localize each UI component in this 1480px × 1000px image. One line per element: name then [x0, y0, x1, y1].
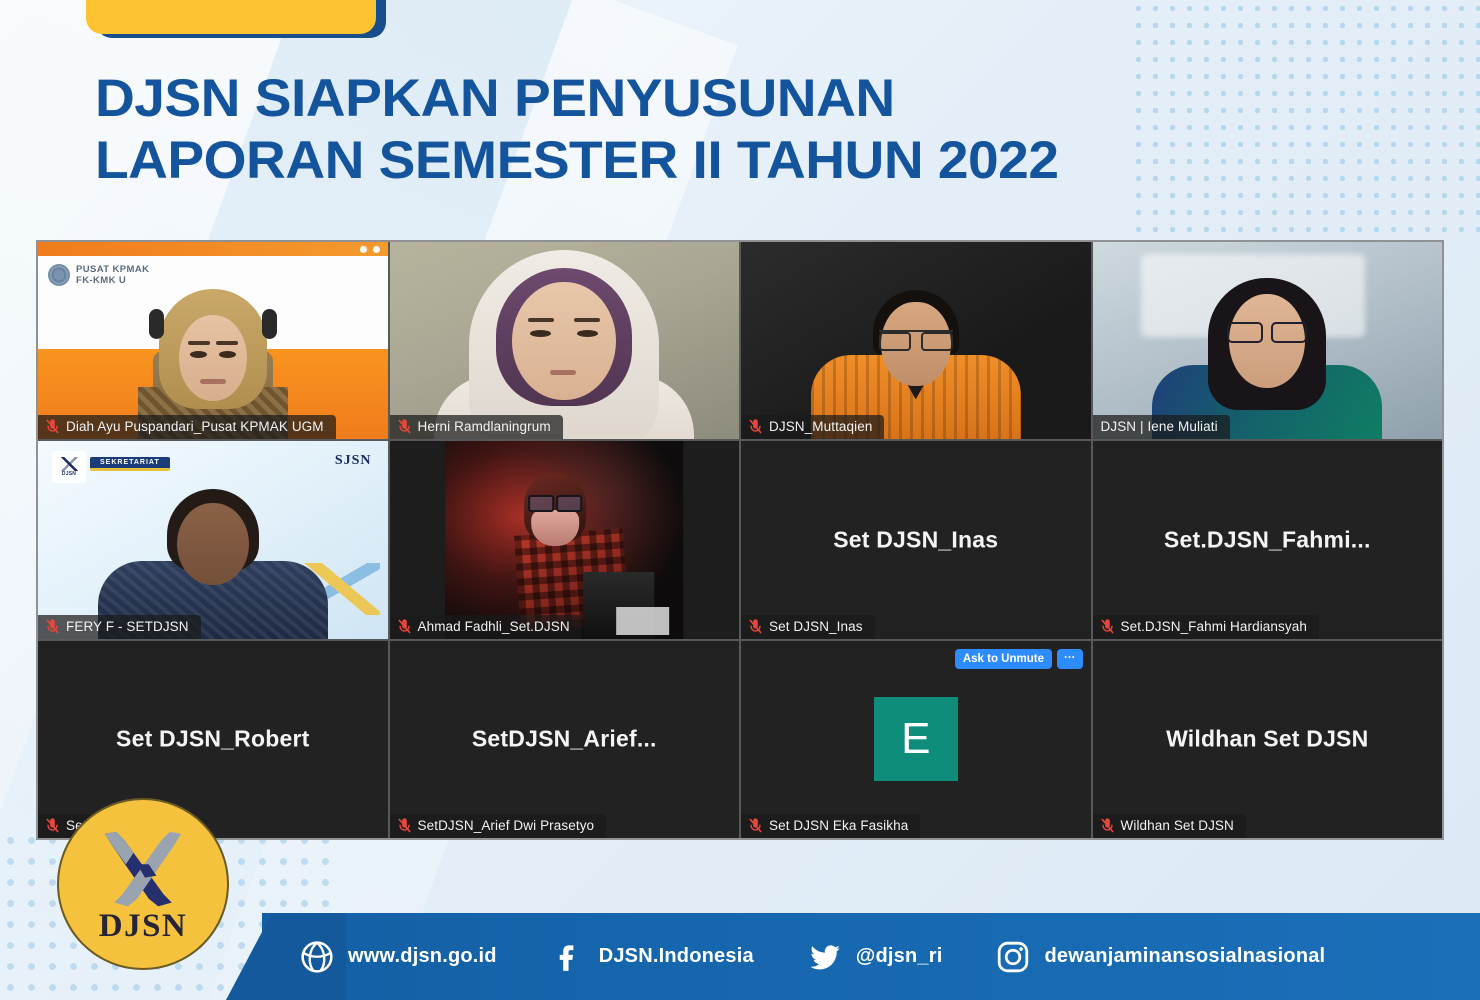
- video-feed: [390, 441, 740, 638]
- participant-name: Set DJSN_Inas: [769, 619, 863, 634]
- globe-icon: [300, 940, 334, 974]
- participant-tile[interactable]: DJSN SEKRETARIAT SJSN FERY F - SETDJSN: [38, 441, 388, 638]
- participant-tile[interactable]: Ahmad Fadhli_Set.DJSN: [390, 441, 740, 638]
- participant-nameplate: Wildhan Set DJSN: [1093, 814, 1246, 838]
- ask-to-unmute-button[interactable]: Ask to Unmute: [955, 649, 1052, 669]
- participant-hover-controls[interactable]: Ask to Unmute ···: [955, 649, 1083, 669]
- participant-name: Herni Ramdlaningrum: [418, 419, 551, 434]
- participant-name: SetDJSN_Arief Dwi Prasetyo: [418, 818, 595, 833]
- footer-item-facebook[interactable]: DJSN.Indonesia: [551, 940, 754, 974]
- figure-face: [512, 282, 616, 400]
- muted-mic-icon: [398, 419, 411, 434]
- participant-display-name: Set.DJSN_Fahmi...: [1093, 526, 1443, 553]
- sjsn-mark: SJSN: [335, 453, 372, 469]
- title-line-2: LAPORAN SEMESTER II TAHUN 2022: [95, 130, 1322, 192]
- participant-nameplate: DJSN | Iene Muliati: [1093, 415, 1230, 439]
- participant-display-name: Wildhan Set DJSN: [1093, 726, 1443, 753]
- participant-name: DJSN | Iene Muliati: [1101, 419, 1218, 434]
- participant-name: Ahmad Fadhli_Set.DJSN: [418, 619, 570, 634]
- participant-display-name: Set DJSN_Robert: [38, 726, 388, 753]
- djsn-logo-icon: DJSN: [52, 451, 86, 483]
- participant-name: Set DJSN Eka Fasikha: [769, 818, 908, 833]
- video-feed: [1093, 242, 1443, 439]
- participant-tile[interactable]: PUSAT KPMAKFK-KMK U: [38, 242, 388, 439]
- participant-tile[interactable]: Set DJSN_Inas Set DJSN_Inas: [741, 441, 1091, 638]
- ugm-seal-icon: [48, 264, 70, 286]
- muted-mic-icon: [46, 619, 59, 634]
- participant-nameplate: SetDJSN_Arief Dwi Prasetyo: [390, 814, 607, 838]
- participant-tile[interactable]: Herni Ramdlaningrum: [390, 242, 740, 439]
- footer-item-instagram[interactable]: dewanjaminansosialnasional: [996, 940, 1325, 974]
- instagram-icon: [996, 940, 1030, 974]
- screen-glow: [617, 607, 669, 635]
- participant-name: Set.DJSN_Fahmi Hardiansyah: [1121, 619, 1307, 634]
- muted-mic-icon: [1101, 619, 1114, 634]
- djsn-wordmark: DJSN: [99, 908, 188, 945]
- participant-name: FERY F - SETDJSN: [66, 619, 189, 634]
- djsn-x-ribbon-icon: [95, 828, 191, 912]
- muted-mic-icon: [1101, 818, 1114, 833]
- sekretariat-badge: SEKRETARIAT: [90, 457, 170, 471]
- facebook-icon: [551, 940, 585, 974]
- footer-item-website[interactable]: www.djsn.go.id: [300, 940, 497, 974]
- participant-tile[interactable]: SetDJSN_Arief... SetDJSN_Arief Dwi Prase…: [390, 641, 740, 838]
- participant-name: DJSN_Muttaqien: [769, 419, 872, 434]
- participant-tile[interactable]: Set.DJSN_Fahmi... Set.DJSN_Fahmi Hardian…: [1093, 441, 1443, 638]
- video-image: [445, 441, 683, 638]
- muted-mic-icon: [398, 619, 411, 634]
- participant-tile[interactable]: Wildhan Set DJSN Wildhan Set DJSN: [1093, 641, 1443, 838]
- participant-display-name: Set DJSN_Inas: [741, 526, 1091, 553]
- participant-nameplate: DJSN_Muttaqien: [741, 415, 884, 439]
- footer-label-instagram: dewanjaminansosialnasional: [1044, 945, 1325, 968]
- participant-nameplate: Set.DJSN_Fahmi Hardiansyah: [1093, 615, 1319, 639]
- avatar: E: [874, 697, 958, 781]
- video-feed: [741, 242, 1091, 439]
- footer-item-twitter[interactable]: @djsn_ri: [808, 940, 943, 974]
- muted-mic-icon: [398, 818, 411, 833]
- virtual-bg-topbar: [38, 242, 388, 256]
- more-options-button[interactable]: ···: [1057, 649, 1083, 669]
- video-feed: [390, 242, 740, 439]
- muted-mic-icon: [749, 818, 762, 833]
- glasses-icon: [879, 330, 953, 346]
- headset-icon: [262, 309, 277, 339]
- participant-nameplate: Diah Ayu Puspandari_Pusat KPMAK UGM: [38, 415, 336, 439]
- participant-nameplate: FERY F - SETDJSN: [38, 615, 201, 639]
- participant-tile[interactable]: DJSN_Muttaqien: [741, 242, 1091, 439]
- instagram-icon: [360, 246, 367, 253]
- footer-label-facebook: DJSN.Indonesia: [599, 945, 754, 968]
- title-line-1: DJSN SIAPKAN PENYUSUNAN: [95, 68, 1322, 130]
- glasses-icon: [528, 495, 582, 509]
- participant-tile-hovered[interactable]: Ask to Unmute ··· E Set DJSN Eka Fasikha: [741, 641, 1091, 838]
- avatar-initial: E: [901, 714, 930, 764]
- muted-mic-icon: [46, 419, 59, 434]
- muted-mic-icon: [46, 818, 59, 833]
- participant-grid: PUSAT KPMAKFK-KMK U: [38, 242, 1442, 838]
- kpmak-logo-text: PUSAT KPMAKFK-KMK U: [76, 264, 149, 286]
- footer-social-links: www.djsn.go.id DJSN.Indonesia @djsn_ri d…: [300, 913, 1325, 1000]
- footer-label-website: www.djsn.go.id: [348, 945, 497, 968]
- figure-face: [177, 503, 249, 585]
- page-title: DJSN SIAPKAN PENYUSUNAN LAPORAN SEMESTER…: [95, 68, 1275, 192]
- footer-label-twitter: @djsn_ri: [856, 945, 943, 968]
- participant-nameplate: Ahmad Fadhli_Set.DJSN: [390, 615, 582, 639]
- muted-mic-icon: [749, 619, 762, 634]
- video-feed: DJSN SEKRETARIAT SJSN: [38, 441, 388, 638]
- participant-name: Diah Ayu Puspandari_Pusat KPMAK UGM: [66, 419, 324, 434]
- figure-face: [179, 315, 247, 401]
- zoom-meeting-window: PUSAT KPMAKFK-KMK U: [36, 240, 1444, 840]
- muted-mic-icon: [749, 419, 762, 434]
- headset-icon: [149, 309, 164, 339]
- video-feed: PUSAT KPMAKFK-KMK U: [38, 242, 388, 439]
- participant-tile[interactable]: Set DJSN_Robert Set DJSN_Robert: [38, 641, 388, 838]
- participant-tile-active-speaker[interactable]: DJSN | Iene Muliati: [1093, 242, 1443, 439]
- top-yellow-tab: [86, 0, 376, 34]
- participant-display-name: SetDJSN_Arief...: [390, 726, 740, 753]
- twitter-icon: [808, 940, 842, 974]
- facebook-icon: [373, 246, 380, 253]
- participant-nameplate: Set DJSN Eka Fasikha: [741, 814, 920, 838]
- djsn-x-ribbon-icon: [61, 457, 78, 471]
- participant-name: Wildhan Set DJSN: [1121, 818, 1234, 833]
- djsn-logo: DJSN: [57, 798, 229, 970]
- glasses-icon: [1227, 322, 1307, 340]
- djsn-logo-text: DJSN: [62, 471, 76, 477]
- kpmak-logo: PUSAT KPMAKFK-KMK U: [48, 264, 149, 286]
- participant-nameplate: Set DJSN_Inas: [741, 615, 875, 639]
- participant-nameplate: Herni Ramdlaningrum: [390, 415, 563, 439]
